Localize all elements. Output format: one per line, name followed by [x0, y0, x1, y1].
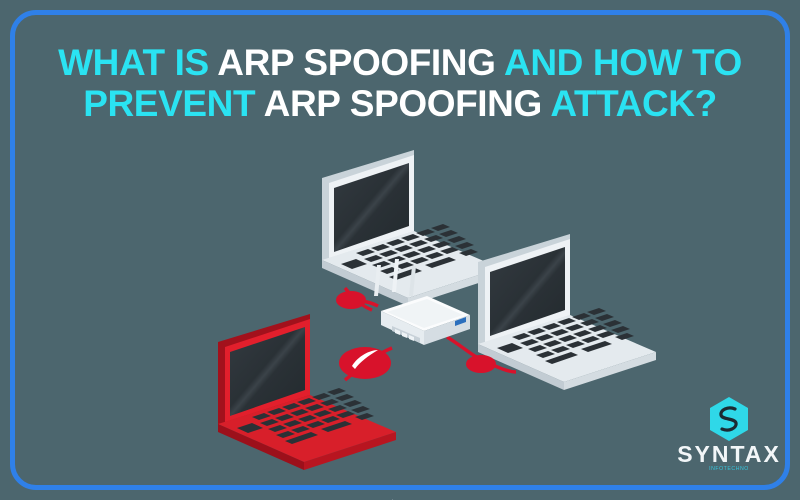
cable-node-right — [466, 355, 496, 373]
poster-canvas: WHAT IS ARP SPOOFING AND HOW TO PREVENT … — [0, 0, 800, 500]
logo-tagline: INFOTECHNO — [676, 467, 782, 472]
attacker-highlight-node — [339, 347, 391, 379]
hexagon-logo-icon — [708, 396, 750, 442]
logo-wordmark: SYNTAX — [676, 443, 782, 466]
attacker-laptop — [218, 314, 396, 470]
brand-logo: SYNTAX INFOTECHNO — [676, 396, 782, 472]
victim-laptop-right — [478, 234, 656, 390]
cable-node-top — [336, 291, 366, 309]
